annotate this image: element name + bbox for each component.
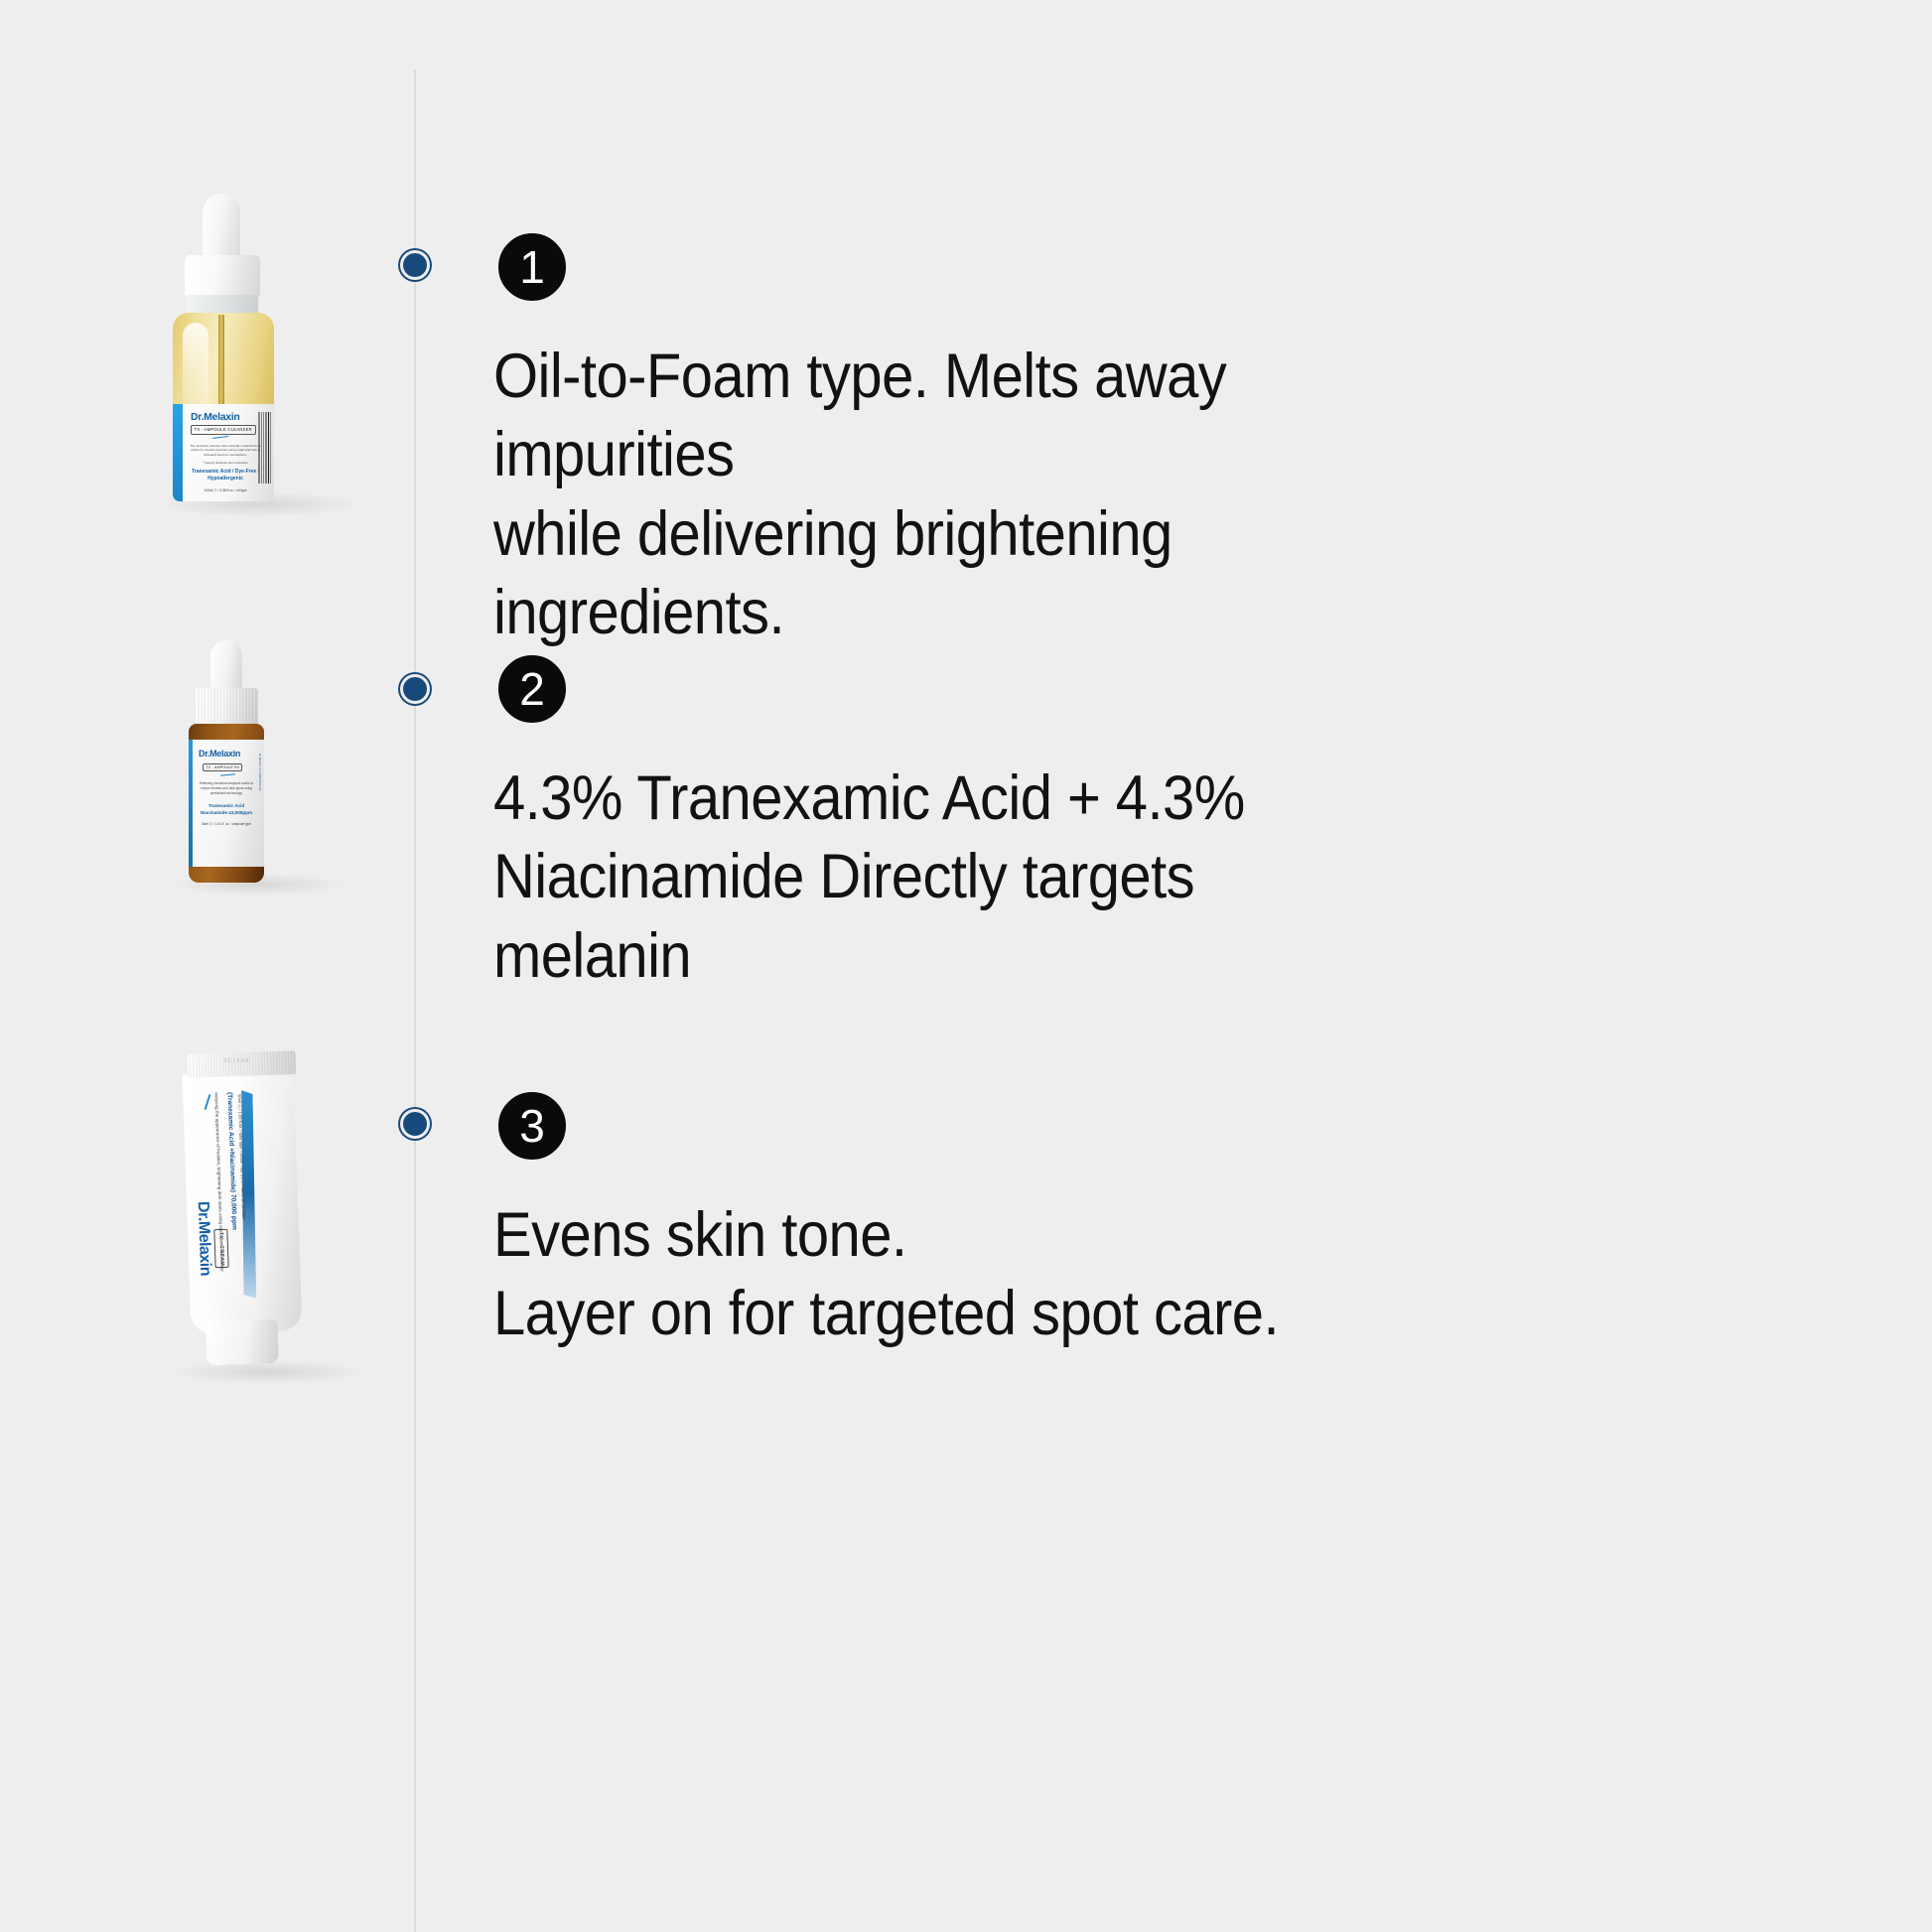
label-variant-1: TX - AMPOULE CLEANSER: [191, 425, 256, 435]
label-tick-mark: [212, 436, 228, 439]
barcode-icon: [258, 412, 271, 483]
step-description-2: 4.3% Tranexamic Acid + 4.3% Niacinamide …: [493, 759, 1407, 996]
timeline-rail: [414, 69, 416, 1932]
label-description-2: Whitening functional ampoule works to re…: [197, 781, 256, 795]
label-volume-1: 100ml ⓢ / 3.38 fl.oz. / oil type: [189, 487, 262, 492]
timeline-dot-step-2: [400, 674, 430, 704]
product-label-2: Dr.Melaxin TX - AMPOULE Rx Whitening fun…: [189, 740, 264, 867]
dropper-collar: [185, 255, 260, 299]
tube-brand: Dr.Melaxin: [194, 1201, 214, 1277]
step-number-badge-2: 2: [493, 650, 571, 728]
label-accent-stripe: [173, 404, 183, 501]
label-tick-mark: [220, 773, 235, 776]
product-image-tx-cream: 2C166K reducing the appearance of freckl…: [169, 1052, 367, 1370]
ribbed-cap: [195, 688, 258, 728]
step-description-1: Oil-to-Foam type. Melts away impurities …: [493, 338, 1407, 653]
label-volume-2: 30ml ⓢ / 1.01 fl. oz. / ampoule type: [197, 821, 256, 826]
product-image-tx-ampoule-rx: Dr.Melaxin TX - AMPOULE Rx Whitening fun…: [167, 640, 345, 894]
step-description-3: Evens skin tone. Layer on for targeted s…: [493, 1196, 1407, 1354]
label-brand-1: Dr.Melaxin: [191, 411, 240, 423]
tube-batch-code: 2C166K: [223, 1058, 250, 1064]
step-line-2a: 4.3% Tranexamic Acid + 4.3%: [493, 759, 1407, 838]
label-description-1: The ampoule cleanser was manually extrac…: [189, 444, 262, 457]
step-line-1a: Oil-to-Foam type. Melts away impurities: [493, 338, 1407, 495]
product-routine-infographic: Dr.Melaxin TX - AMPOULE CLEANSER The amp…: [0, 0, 1932, 1932]
label-accent-stripe: [189, 740, 193, 867]
tube-cap: [206, 1319, 278, 1365]
timeline-dot-step-3: [400, 1109, 430, 1139]
step-number-badge-3: 3: [493, 1087, 571, 1165]
label-note-1: * Deeply cleanses skin impurities: [189, 461, 262, 465]
step-line-3b: Layer on for targeted spot care.: [493, 1275, 1407, 1353]
step-line-2b: Niacinamide Directly targets melanin: [493, 838, 1407, 996]
timeline-dot-step-1: [400, 250, 430, 280]
bottle-gloss-highlight: [183, 323, 208, 408]
label-variant-2: TX - AMPOULE Rx: [203, 763, 242, 771]
product-image-tx-ampoule-cleanser: Dr.Melaxin TX - AMPOULE CLEANSER The amp…: [149, 194, 367, 511]
tube-variant: TX - CREAM: [213, 1229, 228, 1269]
label-claim-1: Tranexamic Acid / Dye-Free / Hypoallerge…: [187, 469, 264, 483]
tube-crimp-seal: [187, 1050, 297, 1078]
label-side-text-2: Dr.Melaxin TX-AMPOULE Rx: [258, 754, 262, 791]
label-claim-2: Tranexamic Acid Niacinamide 43,000ppm: [195, 803, 258, 817]
step-line-3a: Evens skin tone.: [493, 1196, 1407, 1275]
label-brand-2: Dr.Melaxin: [199, 749, 240, 759]
product-label-1: Dr.Melaxin TX - AMPOULE CLEANSER The amp…: [173, 404, 274, 501]
step-number-badge-1: 1: [493, 228, 571, 306]
step-line-1b: while delivering brightening ingredients…: [493, 495, 1407, 653]
pipette-tube: [218, 315, 224, 410]
